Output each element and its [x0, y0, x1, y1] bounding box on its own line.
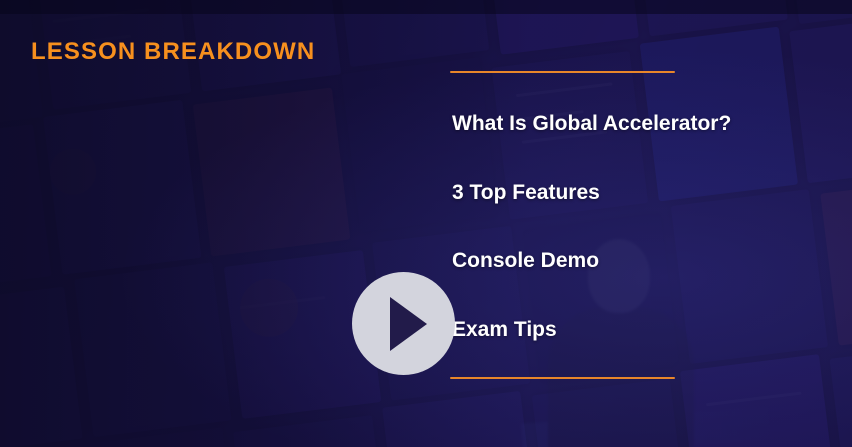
video-slide: LESSON BREAKDOWN What Is Global Accelera… — [0, 0, 852, 447]
agenda-item: 3 Top Features — [452, 181, 600, 205]
background-top-band — [0, 0, 852, 14]
play-button[interactable] — [352, 272, 455, 375]
agenda-item: What Is Global Accelerator? — [452, 112, 731, 136]
agenda-item: Console Demo — [452, 249, 599, 273]
page-title: LESSON BREAKDOWN — [31, 38, 315, 66]
divider-bottom — [450, 377, 675, 379]
background-collage — [0, 0, 852, 447]
play-triangle-icon — [390, 297, 427, 351]
background-overlay — [0, 0, 852, 447]
divider-top — [450, 71, 675, 73]
agenda-item: Exam Tips — [452, 318, 557, 342]
